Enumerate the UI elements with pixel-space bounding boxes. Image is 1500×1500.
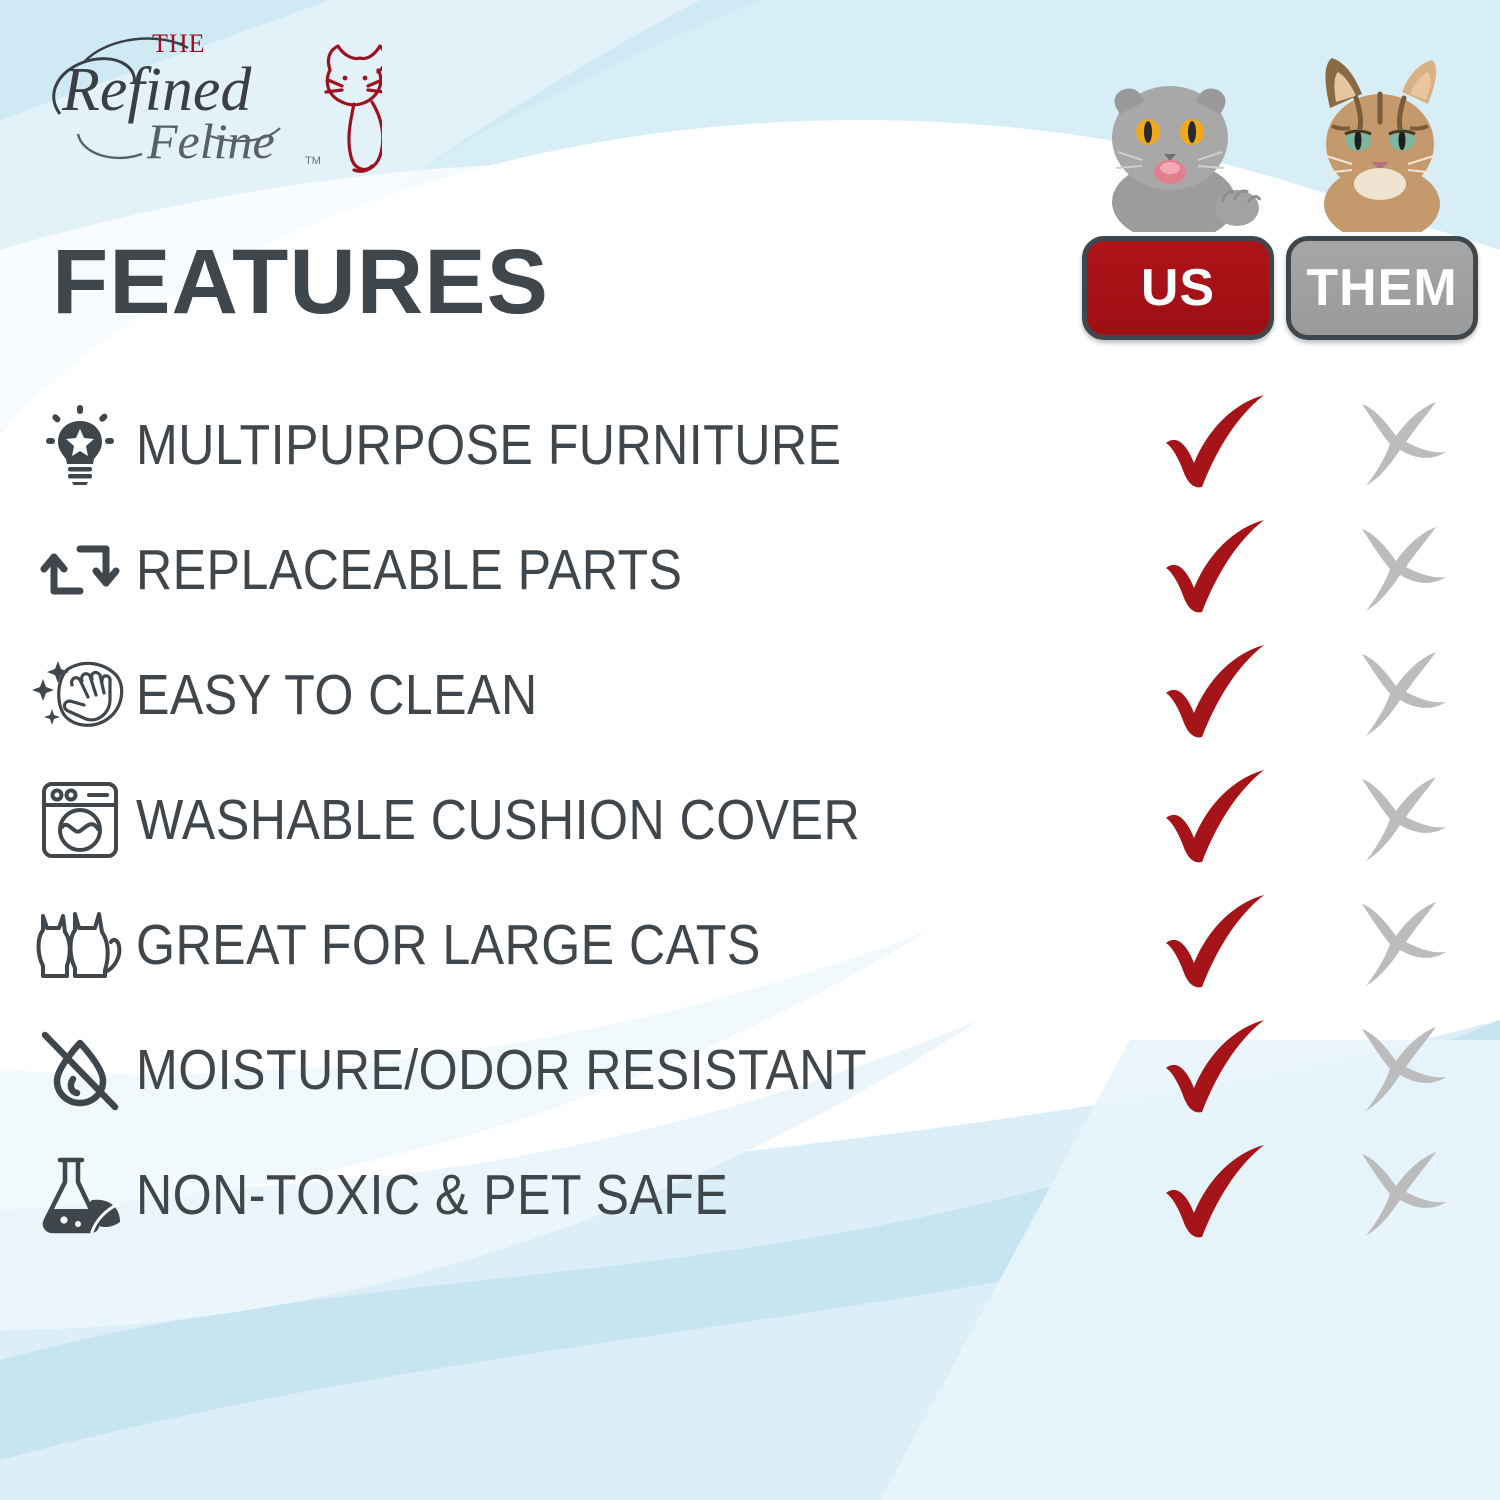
them-x-icon <box>1352 900 1448 990</box>
feature-label: MULTIPURPOSE FURNITURE <box>136 412 1336 478</box>
them-x-icon <box>1352 775 1448 865</box>
lightbulb-star-icon <box>24 397 136 493</box>
us-check-icon <box>1160 645 1270 745</box>
feature-row: GREAT FOR LARGE CATS <box>0 882 1500 1007</box>
grey-scottish-fold-cat <box>1082 52 1274 232</box>
logo-tm-text: TM <box>305 155 321 167</box>
us-check-icon <box>1160 520 1270 620</box>
feature-label: NON-TOXIC & PET SAFE <box>136 1162 1336 1228</box>
badge-them-label: THEM <box>1306 258 1457 318</box>
us-check-icon <box>1160 1020 1270 1120</box>
us-check-icon <box>1160 1145 1270 1245</box>
page-title: FEATURES <box>52 236 549 328</box>
them-x-icon <box>1352 400 1448 490</box>
washing-machine-icon <box>24 772 136 868</box>
two-cats-icon <box>24 897 136 993</box>
feature-label: WASHABLE CUSHION COVER <box>136 787 1336 853</box>
feature-label: GREAT FOR LARGE CATS <box>136 912 1336 978</box>
badge-us[interactable]: US <box>1082 236 1274 340</box>
us-check-icon <box>1160 895 1270 995</box>
column-header-us: US <box>1082 60 1274 340</box>
them-x-icon <box>1352 525 1448 615</box>
flask-leaf-icon <box>24 1147 136 1243</box>
badge-them[interactable]: THEM <box>1286 236 1478 340</box>
them-x-icon <box>1352 1150 1448 1240</box>
feature-row: MOISTURE/ODOR RESISTANT <box>0 1007 1500 1132</box>
no-water-drop-icon <box>24 1022 136 1118</box>
brown-tabby-cat <box>1286 52 1478 232</box>
feature-label: EASY TO CLEAN <box>136 662 1336 728</box>
feature-row: MULTIPURPOSE FURNITURE <box>0 382 1500 507</box>
feature-row: NON-TOXIC & PET SAFE <box>0 1132 1500 1257</box>
them-x-icon <box>1352 1025 1448 1115</box>
feature-label: MOISTURE/ODOR RESISTANT <box>136 1037 1336 1103</box>
feature-row: WASHABLE CUSHION COVER <box>0 757 1500 882</box>
infographic-page: THE Refined Feline TM <box>0 0 1500 1500</box>
feature-list: MULTIPURPOSE FURNITURE <box>0 382 1500 1257</box>
feature-label: REPLACEABLE PARTS <box>136 537 1336 603</box>
hand-wipe-sparkle-icon <box>24 647 136 743</box>
them-x-icon <box>1352 650 1448 740</box>
feature-row: REPLACEABLE PARTS <box>0 507 1500 632</box>
comparison-column-headers: US <box>1082 60 1478 340</box>
logo-feline-text: Feline <box>146 113 275 169</box>
badge-us-label: US <box>1141 258 1215 318</box>
cat-silhouette-icon <box>326 34 382 171</box>
us-check-icon <box>1160 395 1270 495</box>
column-header-them: THEM <box>1286 60 1478 340</box>
brand-logo: THE Refined Feline TM <box>42 18 382 178</box>
feature-row: EASY TO CLEAN <box>0 632 1500 757</box>
recycle-arrows-icon <box>24 522 136 618</box>
us-check-icon <box>1160 770 1270 870</box>
